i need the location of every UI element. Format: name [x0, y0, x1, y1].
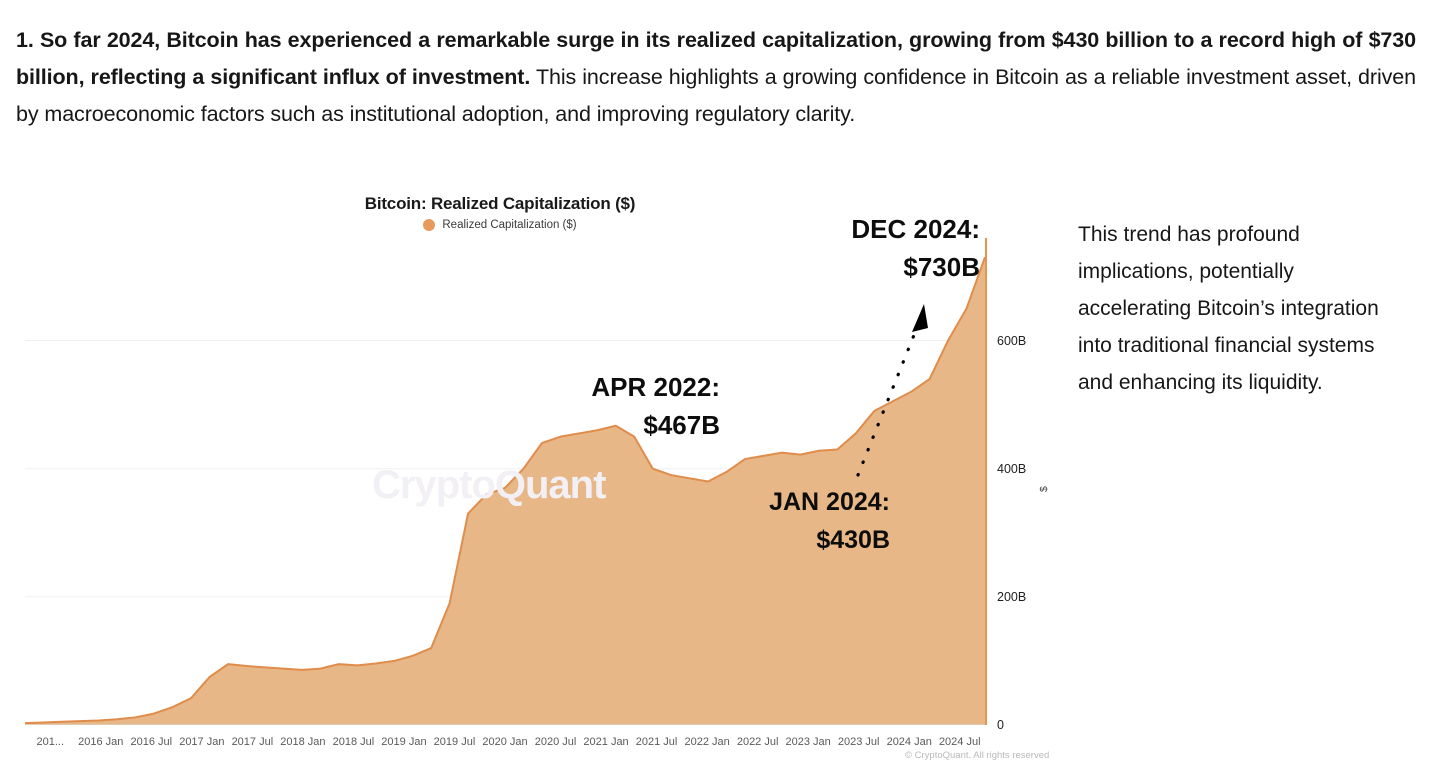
copyright-notice: © CryptoQuant. All rights reserved — [905, 750, 1049, 760]
x-tick-label: 2024 Jul — [939, 736, 981, 748]
x-axis-ticks: 201...2016 Jan2016 Jul2017 Jan2017 Jul20… — [0, 736, 1000, 754]
annotation-apr-line2: $467B — [520, 406, 720, 444]
x-tick-label: 2020 Jan — [482, 736, 527, 748]
annotation-jan-line2: $430B — [690, 521, 890, 559]
y-tick-label: 400B — [997, 462, 1026, 476]
x-tick-label: 2024 Jan — [887, 736, 932, 748]
y-tick-label: 600B — [997, 334, 1026, 348]
legend-label: Realized Capitalization ($) — [442, 219, 576, 231]
annotation-apr-line1: APR 2022: — [520, 368, 720, 406]
x-tick-label: 2016 Jul — [131, 736, 173, 748]
y-axis-caption: $ — [1038, 486, 1050, 492]
x-tick-label: 2021 Jul — [636, 736, 678, 748]
y-tick-label: 0 — [997, 718, 1004, 732]
x-tick-label: 2019 Jul — [434, 736, 476, 748]
annotation-jan-2024: JAN 2024: $430B — [690, 483, 890, 559]
x-tick-label: 2018 Jul — [333, 736, 375, 748]
x-tick-label: 2017 Jan — [179, 736, 224, 748]
legend-color-dot — [423, 219, 435, 231]
growth-arrow-icon — [840, 290, 960, 490]
x-tick-label: 2019 Jan — [381, 736, 426, 748]
x-tick-label: 2018 Jan — [280, 736, 325, 748]
y-tick-label: 200B — [997, 590, 1026, 604]
annotation-apr-2022: APR 2022: $467B — [520, 368, 720, 444]
x-tick-label: 2021 Jan — [583, 736, 628, 748]
cryptoquant-watermark: CryptoQuant — [372, 463, 605, 508]
side-paragraph: This trend has profound implications, po… — [1078, 216, 1408, 401]
intro-paragraph: 1. So far 2024, Bitcoin has experienced … — [16, 22, 1416, 133]
x-tick-label: 201... — [36, 736, 64, 748]
x-tick-label: 2023 Jul — [838, 736, 880, 748]
x-tick-label: 2022 Jul — [737, 736, 779, 748]
annotation-dec-line2: $730B — [780, 248, 980, 286]
x-tick-label: 2016 Jan — [78, 736, 123, 748]
x-tick-label: 2017 Jul — [232, 736, 274, 748]
x-tick-label: 2023 Jan — [786, 736, 831, 748]
y-axis-line — [985, 238, 987, 725]
x-tick-label: 2022 Jan — [684, 736, 729, 748]
annotation-dec-line1: DEC 2024: — [780, 210, 980, 248]
x-tick-label: 2020 Jul — [535, 736, 577, 748]
annotation-dec-2024: DEC 2024: $730B — [780, 210, 980, 286]
